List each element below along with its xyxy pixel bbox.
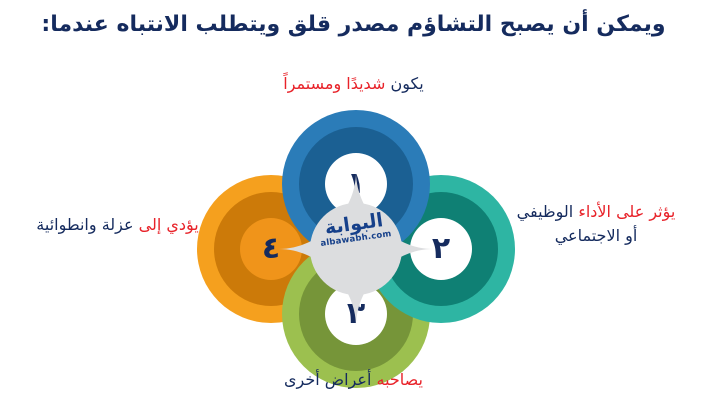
label-right-plain-2: أو الاجتماعي bbox=[555, 226, 638, 245]
label-bottom: يصاحبه أعراض أخرى bbox=[0, 368, 707, 392]
label-top: يكون شديدًا ومستمراً bbox=[0, 72, 707, 96]
label-left-plain: عزلة وانطوائية bbox=[36, 215, 138, 234]
petal-3-number-bubble: ٣ bbox=[325, 283, 387, 345]
label-top-plain: يكون bbox=[385, 74, 423, 93]
petal-4-number-bubble: ٤ bbox=[240, 218, 302, 280]
label-left-highlight: يؤدي إلى bbox=[139, 215, 199, 234]
infographic-root: ويمكن أن يصبح التشاؤم مصدر قلق ويتطلب ال… bbox=[0, 0, 707, 403]
label-bottom-highlight: يصاحبه bbox=[376, 370, 423, 389]
petal-2-number-bubble: ٢ bbox=[410, 218, 472, 280]
label-right-highlight: يؤثر على الأداء bbox=[578, 202, 675, 221]
label-left: يؤدي إلى عزلة وانطوائية bbox=[5, 213, 230, 237]
label-right-plain-1: الوظيفي bbox=[517, 202, 579, 221]
label-bottom-plain: أعراض أخرى bbox=[284, 370, 376, 389]
label-right: يؤثر على الأداء الوظيفي أو الاجتماعي bbox=[490, 200, 702, 248]
label-top-highlight: شديدًا ومستمراً bbox=[283, 74, 385, 93]
petal-1-number-bubble: ١ bbox=[325, 153, 387, 215]
